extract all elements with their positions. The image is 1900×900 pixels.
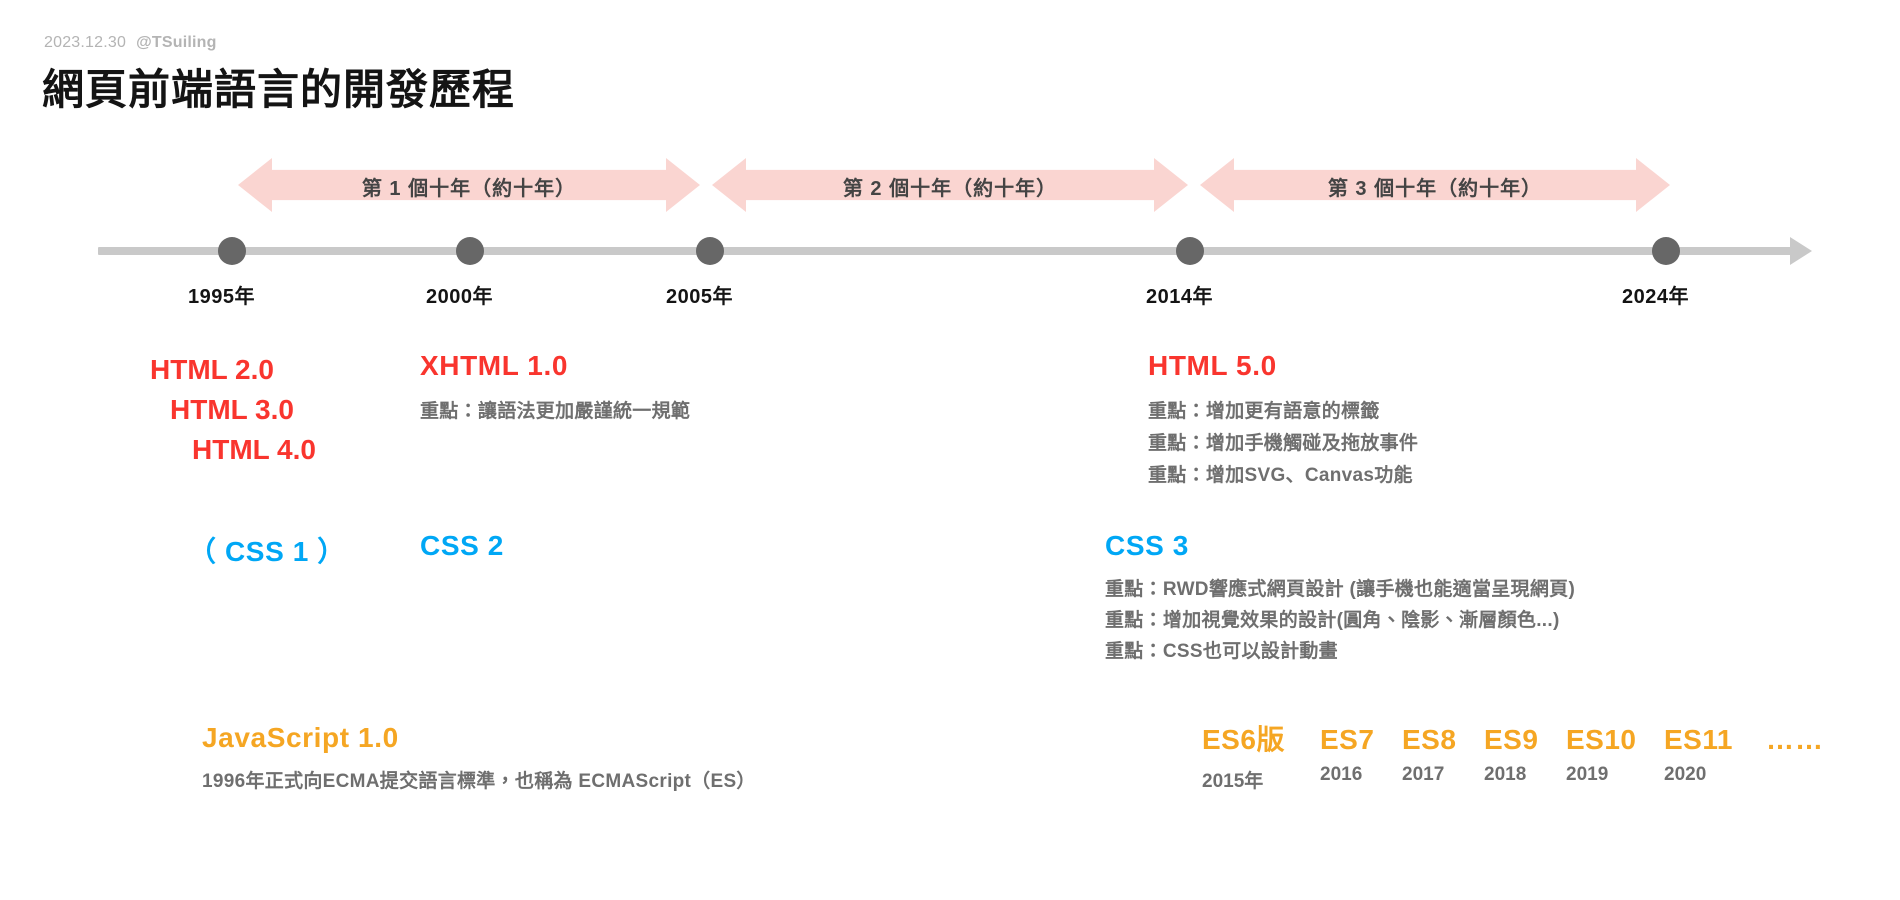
es-item-es6: ES6版 2015年 (1202, 718, 1320, 793)
timeline-dot-2024 (1652, 237, 1680, 265)
timeline-arrow-icon (1790, 237, 1812, 265)
html5-note-1: 重點：增加更有語意的標籤 (1148, 396, 1418, 428)
html5-note-3: 重點：增加SVG、Canvas功能 (1148, 460, 1418, 492)
javascript-note: 1996年正式向ECMA提交語言標準，也稱為 ECMAScript（ES） (202, 766, 756, 798)
css2-title: CSS 2 (420, 530, 504, 562)
es-item-es7: ES7 2016 (1320, 724, 1402, 786)
html-version-4: HTML 4.0 (192, 430, 316, 470)
es-year-es7: 2016 (1320, 764, 1402, 786)
timeline-dot-2005 (696, 237, 724, 265)
es-name-es10: ES10 (1566, 724, 1664, 756)
xhtml-title: XHTML 1.0 (420, 350, 690, 382)
es-item-es9: ES9 2018 (1484, 724, 1566, 786)
css2-group: CSS 2 (420, 530, 504, 562)
css1-group: （ CSS 1 ） (188, 530, 346, 570)
decade-arrow-1-label: 第 1 個十年（約十年） (362, 172, 576, 201)
es-name-es6: ES6版 (1202, 718, 1320, 758)
decade-arrow-2: 第 2 個十年（約十年） (712, 158, 1188, 212)
year-label-1995: 1995年 (188, 280, 255, 309)
byline: 2023.12.30@TSuiling (44, 34, 217, 52)
publish-date: 2023.12.30 (44, 34, 126, 51)
html5-group: HTML 5.0 重點：增加更有語意的標籤 重點：增加手機觸碰及拖放事件 重點：… (1148, 350, 1418, 492)
es-item-es8: ES8 2017 (1402, 724, 1484, 786)
html5-notes: 重點：增加更有語意的標籤 重點：增加手機觸碰及拖放事件 重點：增加SVG、Can… (1148, 396, 1418, 492)
year-label-2005: 2005年 (666, 280, 733, 309)
css3-note-2: 重點：增加視覺效果的設計(圓角、陰影、漸層顏色...) (1105, 605, 1575, 636)
xhtml-group: XHTML 1.0 重點：讓語法更加嚴謹統一規範 (420, 350, 690, 428)
javascript-title: JavaScript 1.0 (202, 722, 756, 754)
xhtml-note: 重點：讓語法更加嚴謹統一規範 (420, 396, 690, 428)
diagram-canvas: 2023.12.30@TSuiling 網頁前端語言的開發歷程 第 1 個十年（… (0, 0, 1900, 900)
es-versions-row: ES6版 2015年 ES7 2016 ES8 2017 ES9 2018 ES… (1202, 718, 1824, 793)
author-handle: @TSuiling (136, 34, 217, 51)
es-year-es8: 2017 (1402, 764, 1484, 786)
timeline-dot-2014 (1176, 237, 1204, 265)
es-versions-group: ES6版 2015年 ES7 2016 ES8 2017 ES9 2018 ES… (1202, 718, 1824, 793)
css3-note-1: 重點：RWD響應式網頁設計 (讓手機也能適當呈現網頁) (1105, 574, 1575, 605)
es-item-more: …… (1766, 724, 1824, 756)
year-label-2014: 2014年 (1146, 280, 1213, 309)
css3-group: CSS 3 重點：RWD響應式網頁設計 (讓手機也能適當呈現網頁) 重點：增加視… (1105, 530, 1575, 667)
timeline-dot-2000 (456, 237, 484, 265)
css3-notes: 重點：RWD響應式網頁設計 (讓手機也能適當呈現網頁) 重點：增加視覺效果的設計… (1105, 574, 1575, 667)
page-title: 網頁前端語言的開發歷程 (42, 56, 515, 117)
decade-band: 第 1 個十年（約十年） 第 2 個十年（約十年） 第 3 個十年（約十年） (0, 158, 1900, 212)
css3-title: CSS 3 (1105, 530, 1575, 562)
html-version-2: HTML 2.0 (150, 350, 316, 390)
es-year-es9: 2018 (1484, 764, 1566, 786)
es-item-es10: ES10 2019 (1566, 724, 1664, 786)
es-year-es10: 2019 (1566, 764, 1664, 786)
html5-title: HTML 5.0 (1148, 350, 1418, 382)
html5-note-2: 重點：增加手機觸碰及拖放事件 (1148, 428, 1418, 460)
es-year-es6: 2015年 (1202, 766, 1320, 793)
decade-arrow-1: 第 1 個十年（約十年） (238, 158, 700, 212)
html-versions-group: HTML 2.0 HTML 3.0 HTML 4.0 (150, 350, 316, 470)
es-name-es11: ES11 (1664, 724, 1766, 756)
decade-arrow-2-label: 第 2 個十年（約十年） (843, 172, 1057, 201)
es-name-es9: ES9 (1484, 724, 1566, 756)
css3-note-3: 重點：CSS也可以設計動畫 (1105, 636, 1575, 667)
es-name-es8: ES8 (1402, 724, 1484, 756)
timeline-dot-1995 (218, 237, 246, 265)
decade-arrow-3-label: 第 3 個十年（約十年） (1328, 172, 1542, 201)
html-version-3: HTML 3.0 (170, 390, 316, 430)
timeline-axis (98, 247, 1798, 255)
year-label-2000: 2000年 (426, 280, 493, 309)
css1-title: （ CSS 1 ） (188, 530, 346, 570)
es-more-ellipsis: …… (1766, 724, 1824, 756)
es-item-es11: ES11 2020 (1664, 724, 1766, 786)
decade-arrow-3: 第 3 個十年（約十年） (1200, 158, 1670, 212)
es-name-es7: ES7 (1320, 724, 1402, 756)
es-year-es11: 2020 (1664, 764, 1766, 786)
javascript-group: JavaScript 1.0 1996年正式向ECMA提交語言標準，也稱為 EC… (202, 722, 756, 798)
year-label-2024: 2024年 (1622, 280, 1689, 309)
